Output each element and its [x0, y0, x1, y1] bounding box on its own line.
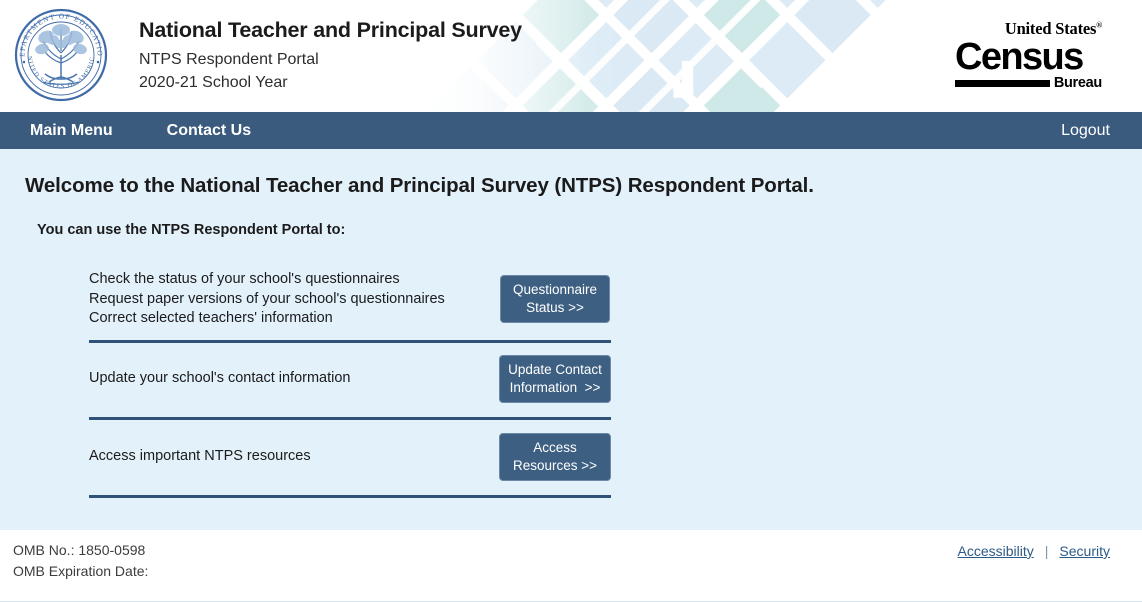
- nav-item-contact-us[interactable]: Contact Us: [167, 112, 251, 149]
- description-line: Request paper versions of your school's …: [89, 290, 445, 310]
- action-block-description: Update your school's contact information: [89, 369, 361, 389]
- main-content-area: Welcome to the National Teacher and Prin…: [0, 149, 1142, 530]
- dept-of-education-seal-icon: DEPARTMENT OF EDUCATION UNITED STATES OF…: [13, 7, 109, 103]
- omb-info: OMB No.: 1850-0598 OMB Expiration Date:: [13, 540, 148, 582]
- access-resources-button[interactable]: Access Resources >>: [499, 433, 611, 481]
- action-block-update-contact-information: Update your school's contact information…: [89, 343, 611, 420]
- nav-item-main-menu[interactable]: Main Menu: [30, 112, 113, 149]
- page-title: National Teacher and Principal Survey: [139, 17, 522, 44]
- description-line: Update your school's contact information: [89, 369, 351, 389]
- intro-text: You can use the NTPS Respondent Portal t…: [37, 222, 345, 238]
- census-logo-bar: [955, 80, 1050, 87]
- description-line: Check the status of your school's questi…: [89, 270, 445, 290]
- update-contact-information-button[interactable]: Update Contact Information >>: [499, 355, 611, 403]
- page-header: DEPARTMENT OF EDUCATION UNITED STATES OF…: [0, 0, 1142, 112]
- button-label-line2: Resources >>: [504, 457, 606, 475]
- main-navigation-bar: Main Menu Contact Us Logout: [0, 112, 1142, 149]
- footer-link-separator: |: [1045, 543, 1049, 559]
- omb-expiration-date: OMB Expiration Date:: [13, 561, 148, 582]
- accessibility-link[interactable]: Accessibility: [958, 543, 1034, 559]
- school-year-label: 2020-21 School Year: [139, 71, 522, 94]
- footer-links: Accessibility | Security: [958, 543, 1110, 559]
- portal-subtitle: NTPS Respondent Portal: [139, 48, 522, 71]
- omb-number: OMB No.: 1850-0598: [13, 540, 148, 561]
- nav-item-logout[interactable]: Logout: [1061, 122, 1110, 139]
- welcome-heading: Welcome to the National Teacher and Prin…: [25, 174, 814, 198]
- page-footer: OMB No.: 1850-0598 OMB Expiration Date: …: [0, 530, 1142, 602]
- description-line: Correct selected teachers' information: [89, 309, 445, 329]
- census-logo-bureau: Bureau: [1054, 76, 1102, 91]
- description-line: Access important NTPS resources: [89, 447, 311, 467]
- action-block-access-resources: Access important NTPS resources Access R…: [89, 420, 611, 498]
- action-block-questionnaire-status: Check the status of your school's questi…: [89, 261, 611, 343]
- questionnaire-status-button[interactable]: Questionnaire Status >>: [500, 275, 610, 323]
- header-title-group: National Teacher and Principal Survey NT…: [139, 17, 522, 94]
- button-label-line1: Access: [504, 439, 606, 457]
- button-label-line2: Information >>: [504, 379, 606, 397]
- portal-action-blocks: Check the status of your school's questi…: [89, 261, 611, 498]
- button-label-line2: Status >>: [505, 299, 605, 317]
- census-logo-census: Census: [955, 39, 1102, 75]
- button-label-line1: Questionnaire: [505, 281, 605, 299]
- census-bureau-logo: United States® Census Bureau: [955, 21, 1102, 90]
- registered-trademark-icon: ®: [1096, 21, 1102, 30]
- security-link[interactable]: Security: [1059, 543, 1110, 559]
- action-block-description: Access important NTPS resources: [89, 447, 321, 467]
- action-block-description: Check the status of your school's questi…: [89, 270, 455, 329]
- button-label-line1: Update Contact: [504, 361, 606, 379]
